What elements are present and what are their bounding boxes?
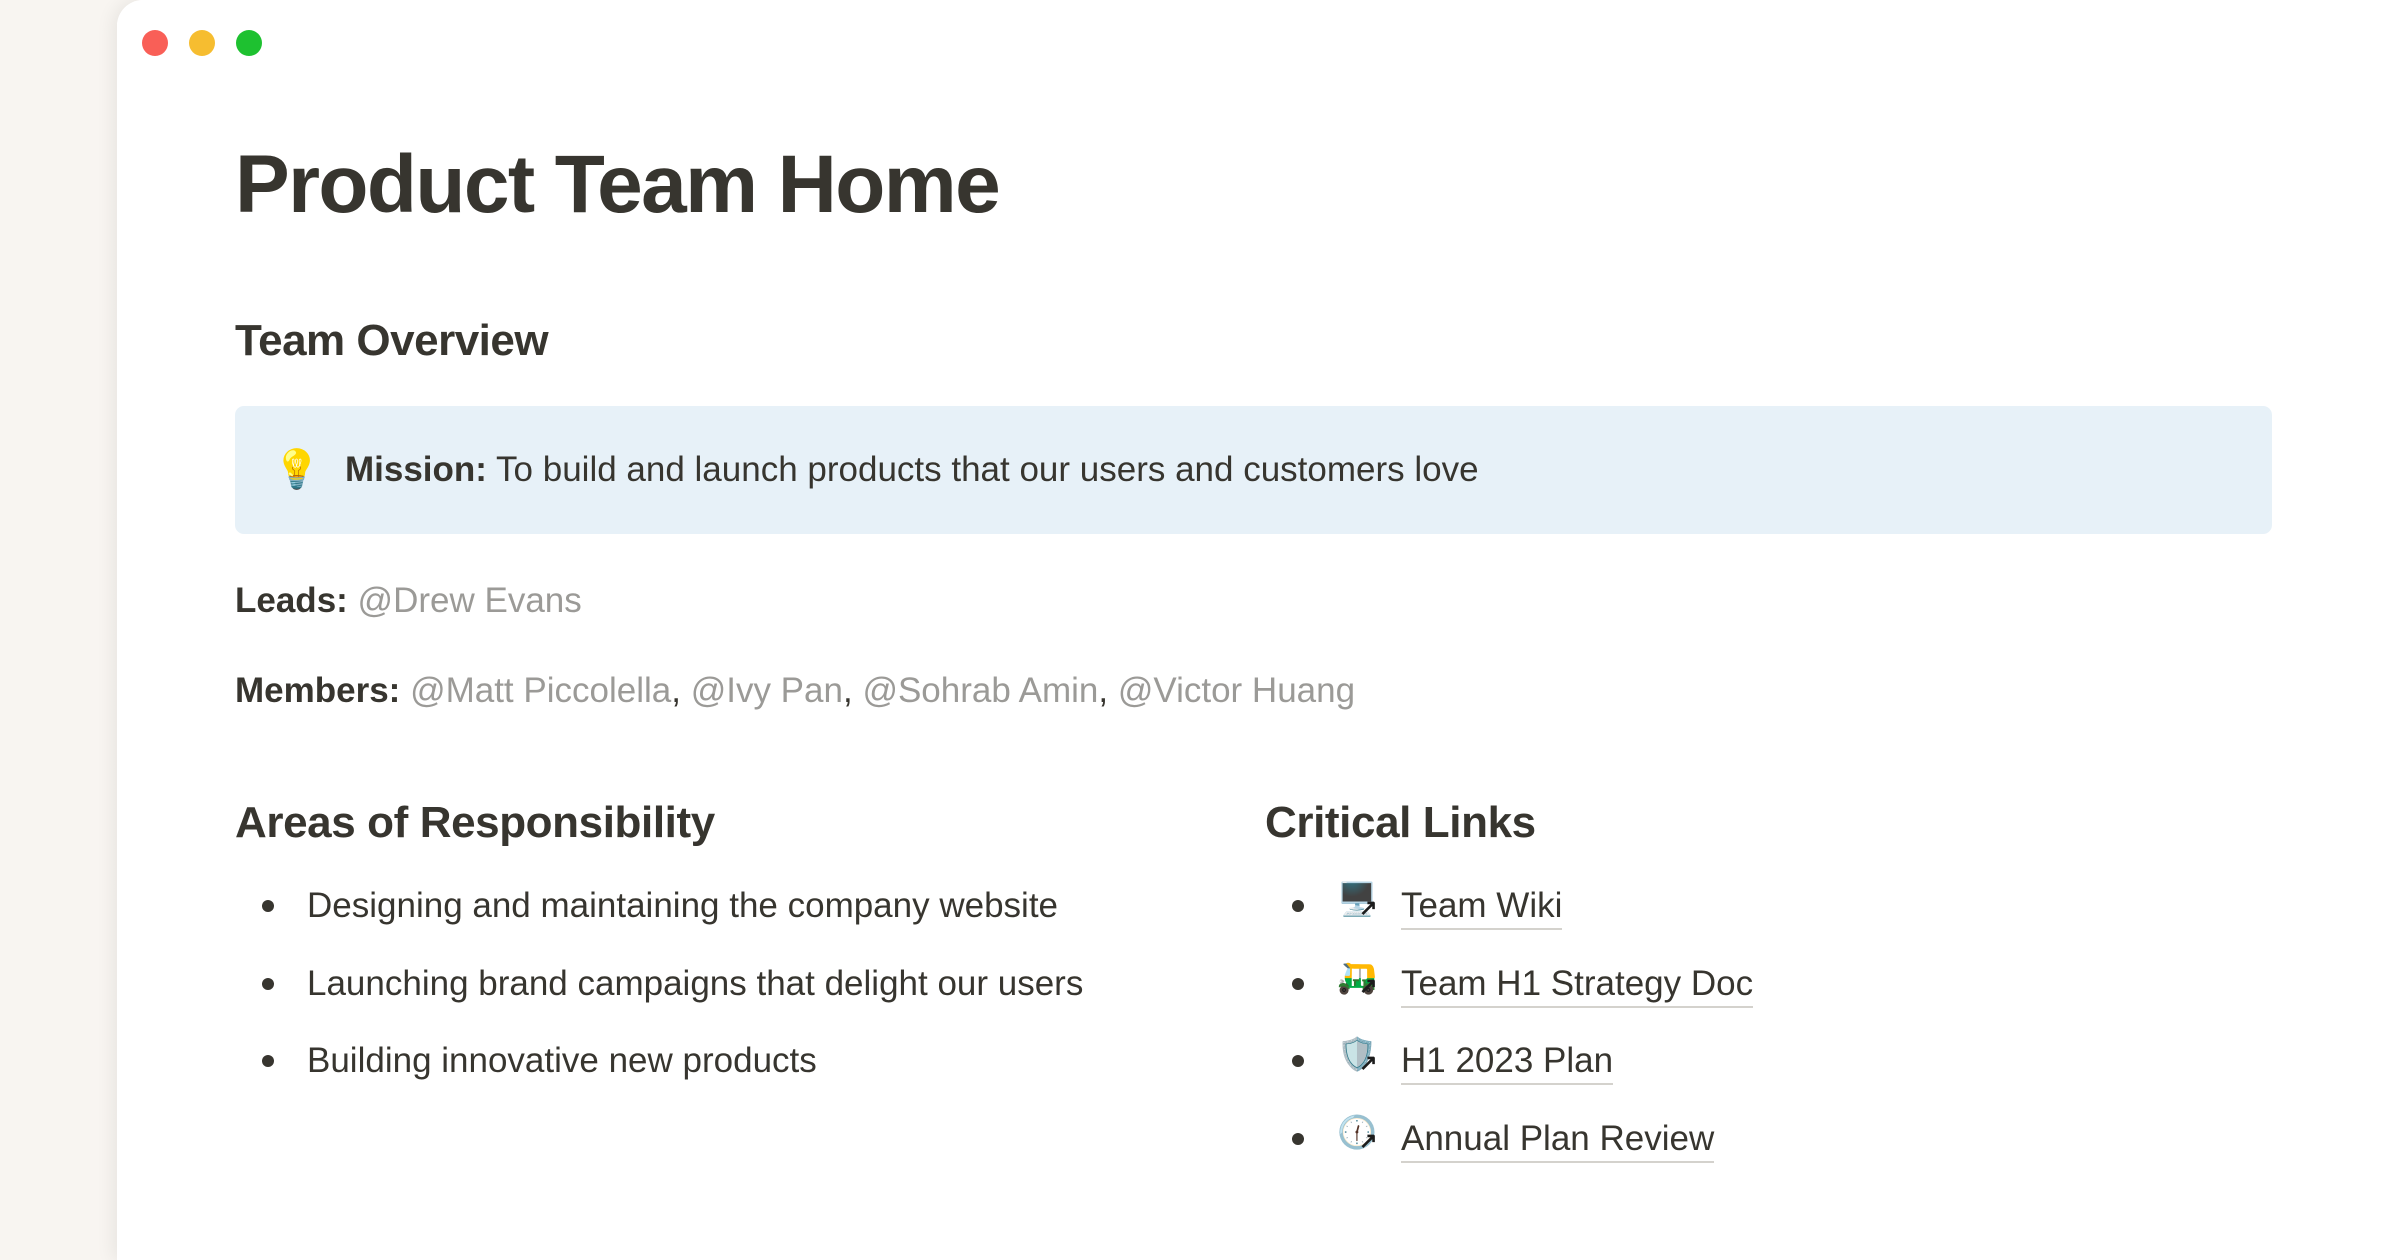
minimize-window-button[interactable] <box>189 30 215 56</box>
traffic-light-group <box>142 30 262 56</box>
mission-label: Mission: <box>345 450 487 489</box>
list-item[interactable]: Launching brand campaigns that delight o… <box>235 959 1135 1009</box>
link-icon-group: 🛺 ↗ <box>1337 961 1389 1001</box>
link-h1-2023-plan[interactable]: H1 2023 Plan <box>1401 1041 1613 1085</box>
link-icon-group: 🖥️ ↗ <box>1337 883 1389 923</box>
external-link-arrow-icon: ↗ <box>1359 1130 1377 1152</box>
close-window-button[interactable] <box>142 30 168 56</box>
list-item[interactable]: 🛺 ↗ Team H1 Strategy Doc <box>1265 959 2265 1009</box>
mission-callout[interactable]: 💡 Mission: To build and launch products … <box>235 406 2272 534</box>
column-critical-links: Critical Links 🖥️ ↗ Team Wiki 🛺 ↗ <box>1265 801 2265 1192</box>
members-label: Members: <box>235 671 400 710</box>
comma-separator: , <box>1098 671 1108 710</box>
link-team-h1-strategy-doc[interactable]: Team H1 Strategy Doc <box>1401 964 1753 1008</box>
mission-callout-text: Mission: To build and launch products th… <box>345 446 1479 493</box>
link-annual-plan-review[interactable]: Annual Plan Review <box>1401 1119 1714 1163</box>
mention-drew-evans[interactable]: @Drew Evans <box>358 581 582 620</box>
mention-victor-huang[interactable]: @Victor Huang <box>1118 671 1355 710</box>
list-item[interactable]: Designing and maintaining the company we… <box>235 881 1135 931</box>
column-areas-of-responsibility: Areas of Responsibility Designing and ma… <box>235 801 1265 1192</box>
light-bulb-icon: 💡 <box>273 451 321 489</box>
comma-separator: , <box>843 671 853 710</box>
heading-critical-links[interactable]: Critical Links <box>1265 801 2265 845</box>
leads-label: Leads: <box>235 581 348 620</box>
document-content: Product Team Home Team Overview 💡 Missio… <box>117 92 2400 1192</box>
external-link-arrow-icon: ↗ <box>1359 975 1377 997</box>
section-heading-team-overview[interactable]: Team Overview <box>235 316 2400 366</box>
link-icon-group: 🛡️ ↗ <box>1337 1038 1389 1078</box>
external-link-arrow-icon: ↗ <box>1359 897 1377 919</box>
heading-areas-of-responsibility[interactable]: Areas of Responsibility <box>235 801 1265 845</box>
two-column-section: Areas of Responsibility Designing and ma… <box>235 801 2335 1192</box>
link-team-wiki[interactable]: Team Wiki <box>1401 886 1562 930</box>
mention-ivy-pan[interactable]: @Ivy Pan <box>691 671 843 710</box>
responsibility-list: Designing and maintaining the company we… <box>235 881 1265 1086</box>
critical-links-list: 🖥️ ↗ Team Wiki 🛺 ↗ Team H1 Strategy Doc <box>1265 881 2265 1164</box>
leads-line: Leads: @Drew Evans <box>235 578 2400 624</box>
members-line: Members: @Matt Piccolella, @Ivy Pan, @So… <box>235 668 2400 714</box>
desktop-background: Product Team Home Team Overview 💡 Missio… <box>0 0 2400 1260</box>
mission-body: To build and launch products that our us… <box>487 450 1479 489</box>
maximize-window-button[interactable] <box>236 30 262 56</box>
mention-sohrab-amin[interactable]: @Sohrab Amin <box>862 671 1098 710</box>
app-window: Product Team Home Team Overview 💡 Missio… <box>117 0 2400 1260</box>
link-icon-group: 🕧 ↗ <box>1337 1116 1389 1156</box>
page-title[interactable]: Product Team Home <box>235 144 2400 226</box>
window-titlebar[interactable] <box>117 0 2400 92</box>
list-item[interactable]: Building innovative new products <box>235 1036 1135 1086</box>
mention-matt-piccolella[interactable]: @Matt Piccolella <box>410 671 671 710</box>
list-item[interactable]: 🕧 ↗ Annual Plan Review <box>1265 1114 2265 1164</box>
external-link-arrow-icon: ↗ <box>1359 1052 1377 1074</box>
comma-separator: , <box>671 671 681 710</box>
list-item[interactable]: 🛡️ ↗ H1 2023 Plan <box>1265 1036 2265 1086</box>
list-item[interactable]: 🖥️ ↗ Team Wiki <box>1265 881 2265 931</box>
